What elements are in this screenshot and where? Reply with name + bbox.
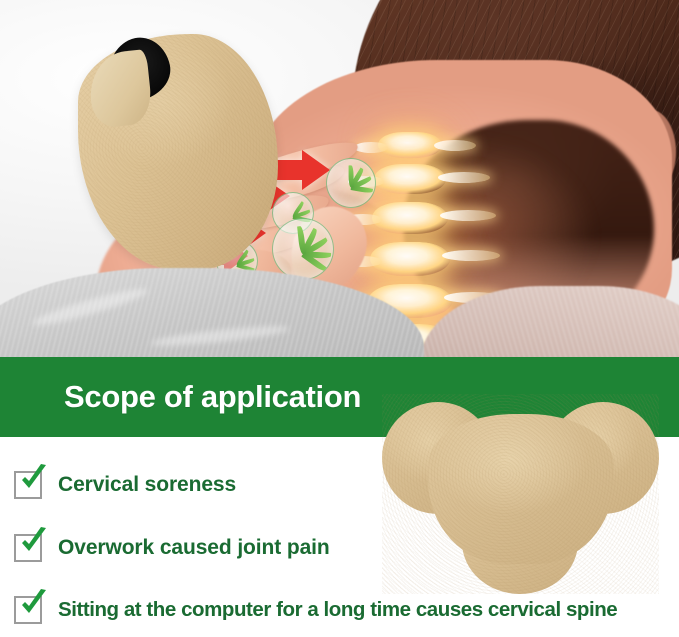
list-item[interactable]: Sitting at the computer for a long time … <box>14 596 617 624</box>
product-infographic: Scope of application Cervical soreness O <box>0 0 679 637</box>
list-item-label: Sitting at the computer for a long time … <box>58 598 617 622</box>
check-icon <box>19 527 49 557</box>
check-icon <box>19 464 49 494</box>
checkbox-3[interactable] <box>14 596 42 624</box>
hanging-patch <box>78 34 278 270</box>
checkbox-1[interactable] <box>14 471 42 499</box>
patch-center <box>428 414 614 564</box>
herb-circle-1 <box>326 158 376 208</box>
product-patch-large <box>382 394 659 594</box>
check-icon <box>19 589 49 619</box>
list-item[interactable]: Cervical soreness <box>14 471 236 499</box>
checkbox-2[interactable] <box>14 534 42 562</box>
hero-photo <box>0 0 679 357</box>
herb-circle-3 <box>272 218 334 280</box>
banner-title: Scope of application <box>64 379 361 415</box>
list-item-label: Overwork caused joint pain <box>58 536 330 560</box>
list-item[interactable]: Overwork caused joint pain <box>14 534 330 562</box>
list-item-label: Cervical soreness <box>58 473 236 497</box>
